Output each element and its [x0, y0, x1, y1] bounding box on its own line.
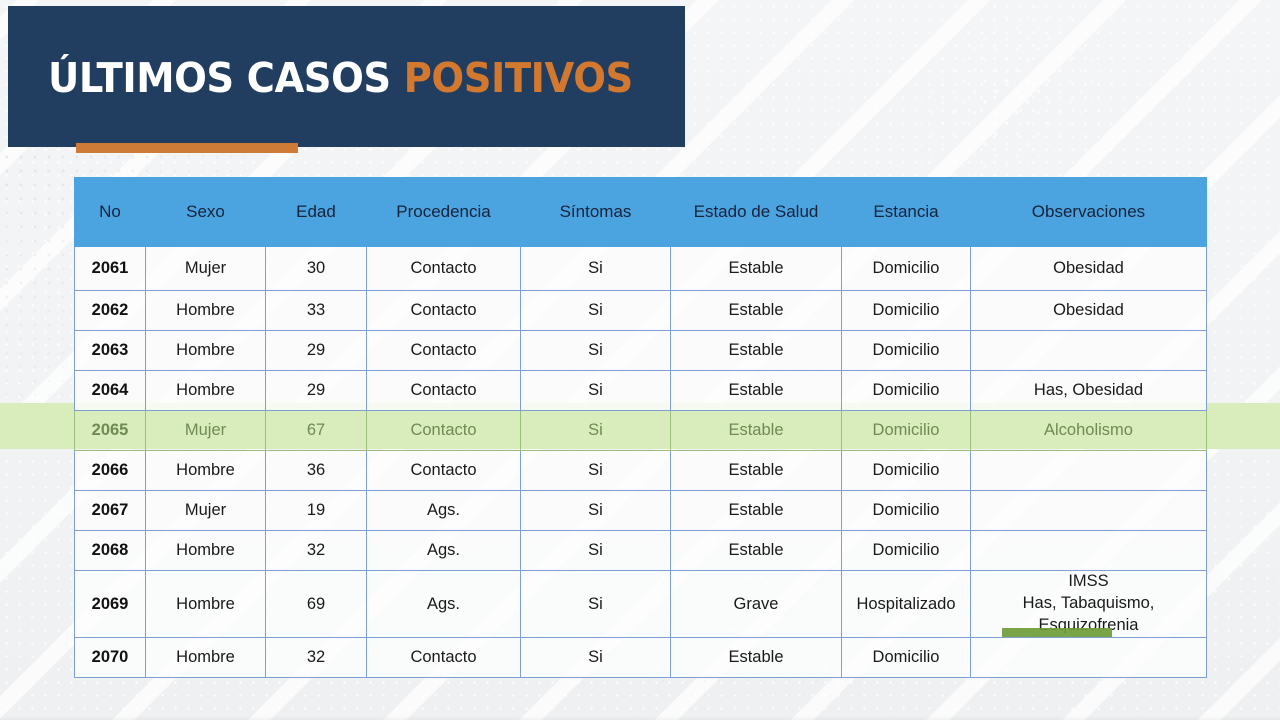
column-header-estado[interactable]: Estado de Salud	[671, 178, 842, 247]
column-header-estancia[interactable]: Estancia	[842, 178, 971, 247]
cell-estado-de-salud: Grave	[671, 571, 842, 638]
cell-no: 2070	[75, 638, 146, 678]
cell-edad: 29	[266, 331, 367, 371]
cell-estado-de-salud: Estable	[671, 247, 842, 291]
cell-estancia: Domicilio	[842, 531, 971, 571]
cell-sexo: Hombre	[146, 331, 266, 371]
cell-no: 2067	[75, 491, 146, 531]
cell-estancia: Domicilio	[842, 411, 971, 451]
cell-estado-de-salud: Estable	[671, 411, 842, 451]
cell-edad: 32	[266, 531, 367, 571]
cell-no: 2066	[75, 451, 146, 491]
cell-sexo: Hombre	[146, 638, 266, 678]
cell-procedencia: Contacto	[367, 411, 521, 451]
title-accent-bar	[76, 143, 298, 153]
cell-sexo: Mujer	[146, 491, 266, 531]
cell-estancia: Domicilio	[842, 247, 971, 291]
column-header-edad[interactable]: Edad	[266, 178, 367, 247]
cell-estado-de-salud: Estable	[671, 531, 842, 571]
cell-observaciones: Alcoholismo	[971, 411, 1207, 451]
column-header-sexo[interactable]: Sexo	[146, 178, 266, 247]
cell-sexo: Mujer	[146, 411, 266, 451]
cell-edad: 30	[266, 247, 367, 291]
cell-sintomas: Si	[521, 371, 671, 411]
cases-table: No Sexo Edad Procedencia Síntomas Estado…	[74, 177, 1207, 678]
cell-no: 2061	[75, 247, 146, 291]
cell-observaciones	[971, 638, 1207, 678]
cell-estancia: Domicilio	[842, 451, 971, 491]
title-accent-text: POSITIVOS	[404, 54, 633, 102]
cell-observaciones: Obesidad	[971, 247, 1207, 291]
cell-estado-de-salud: Estable	[671, 638, 842, 678]
cell-procedencia: Contacto	[367, 331, 521, 371]
cell-text-multiline: IMSSHas, Tabaquismo,Esquizofrenia	[971, 571, 1206, 636]
cell-sintomas: Si	[521, 571, 671, 638]
cell-no: 2065	[75, 411, 146, 451]
cell-sexo: Hombre	[146, 371, 266, 411]
cell-edad: 33	[266, 291, 367, 331]
cell-procedencia: Contacto	[367, 451, 521, 491]
cell-no: 2062	[75, 291, 146, 331]
cell-sintomas: Si	[521, 291, 671, 331]
table-row[interactable]: 2066Hombre36ContactoSiEstableDomicilio	[75, 451, 1207, 491]
cell-observaciones	[971, 451, 1207, 491]
cell-procedencia: Ags.	[367, 531, 521, 571]
cell-estado-de-salud: Estable	[671, 331, 842, 371]
cell-sintomas: Si	[521, 451, 671, 491]
table-body: 2061Mujer30ContactoSiEstableDomicilioObe…	[75, 247, 1207, 678]
cell-procedencia: Contacto	[367, 291, 521, 331]
column-header-no[interactable]: No	[75, 178, 146, 247]
cell-estancia: Domicilio	[842, 291, 971, 331]
presentation-slide: ÚLTIMOS CASOS POSITIVOS No Sexo Edad Pro…	[0, 0, 1280, 720]
cell-observaciones	[971, 491, 1207, 531]
cell-estado-de-salud: Estable	[671, 291, 842, 331]
cell-estancia: Domicilio	[842, 491, 971, 531]
table-row[interactable]: 2070Hombre32ContactoSiEstableDomicilio	[75, 638, 1207, 678]
table-row[interactable]: 2063Hombre29ContactoSiEstableDomicilio	[75, 331, 1207, 371]
cell-edad: 36	[266, 451, 367, 491]
table-row[interactable]: 2065Mujer67ContactoSiEstableDomicilioAlc…	[75, 411, 1207, 451]
cell-edad: 67	[266, 411, 367, 451]
cell-edad: 29	[266, 371, 367, 411]
green-highlighter-marker	[1002, 628, 1112, 637]
page-title: ÚLTIMOS CASOS POSITIVOS	[48, 58, 633, 99]
column-header-procedencia[interactable]: Procedencia	[367, 178, 521, 247]
cell-sexo: Hombre	[146, 571, 266, 638]
cell-no: 2064	[75, 371, 146, 411]
cell-no: 2063	[75, 331, 146, 371]
cell-estado-de-salud: Estable	[671, 491, 842, 531]
cell-procedencia: Contacto	[367, 247, 521, 291]
slide-title-block: ÚLTIMOS CASOS POSITIVOS	[8, 6, 685, 147]
cell-no: 2069	[75, 571, 146, 638]
cell-edad: 32	[266, 638, 367, 678]
cell-sexo: Hombre	[146, 451, 266, 491]
cell-procedencia: Ags.	[367, 571, 521, 638]
cell-sintomas: Si	[521, 531, 671, 571]
title-primary-text: ÚLTIMOS CASOS	[48, 54, 391, 102]
cell-estado-de-salud: Estable	[671, 451, 842, 491]
table-row[interactable]: 2061Mujer30ContactoSiEstableDomicilioObe…	[75, 247, 1207, 291]
table-row[interactable]: 2062Hombre33ContactoSiEstableDomicilioOb…	[75, 291, 1207, 331]
cell-edad: 69	[266, 571, 367, 638]
cell-estancia: Domicilio	[842, 371, 971, 411]
cell-observaciones	[971, 531, 1207, 571]
cell-estancia: Domicilio	[842, 638, 971, 678]
table-row[interactable]: 2067Mujer19Ags.SiEstableDomicilio	[75, 491, 1207, 531]
cell-procedencia: Contacto	[367, 638, 521, 678]
cell-no: 2068	[75, 531, 146, 571]
cell-sexo: Mujer	[146, 247, 266, 291]
cell-edad: 19	[266, 491, 367, 531]
cell-observaciones: Obesidad	[971, 291, 1207, 331]
cell-observaciones	[971, 331, 1207, 371]
cell-observaciones: Has, Obesidad	[971, 371, 1207, 411]
table-header-row: No Sexo Edad Procedencia Síntomas Estado…	[75, 178, 1207, 247]
cell-sintomas: Si	[521, 331, 671, 371]
cell-estancia: Hospitalizado	[842, 571, 971, 638]
cell-sexo: Hombre	[146, 291, 266, 331]
cell-sintomas: Si	[521, 491, 671, 531]
column-header-sintomas[interactable]: Síntomas	[521, 178, 671, 247]
cell-estado-de-salud: Estable	[671, 371, 842, 411]
cell-sintomas: Si	[521, 411, 671, 451]
cell-procedencia: Ags.	[367, 491, 521, 531]
table-row[interactable]: 2068Hombre32Ags.SiEstableDomicilio	[75, 531, 1207, 571]
cell-estancia: Domicilio	[842, 331, 971, 371]
cell-sexo: Hombre	[146, 531, 266, 571]
table-row[interactable]: 2064Hombre29ContactoSiEstableDomicilioHa…	[75, 371, 1207, 411]
cell-sintomas: Si	[521, 247, 671, 291]
cell-sintomas: Si	[521, 638, 671, 678]
cell-procedencia: Contacto	[367, 371, 521, 411]
column-header-observaciones[interactable]: Observaciones	[971, 178, 1207, 247]
slide-bottom-edge	[0, 716, 1280, 720]
